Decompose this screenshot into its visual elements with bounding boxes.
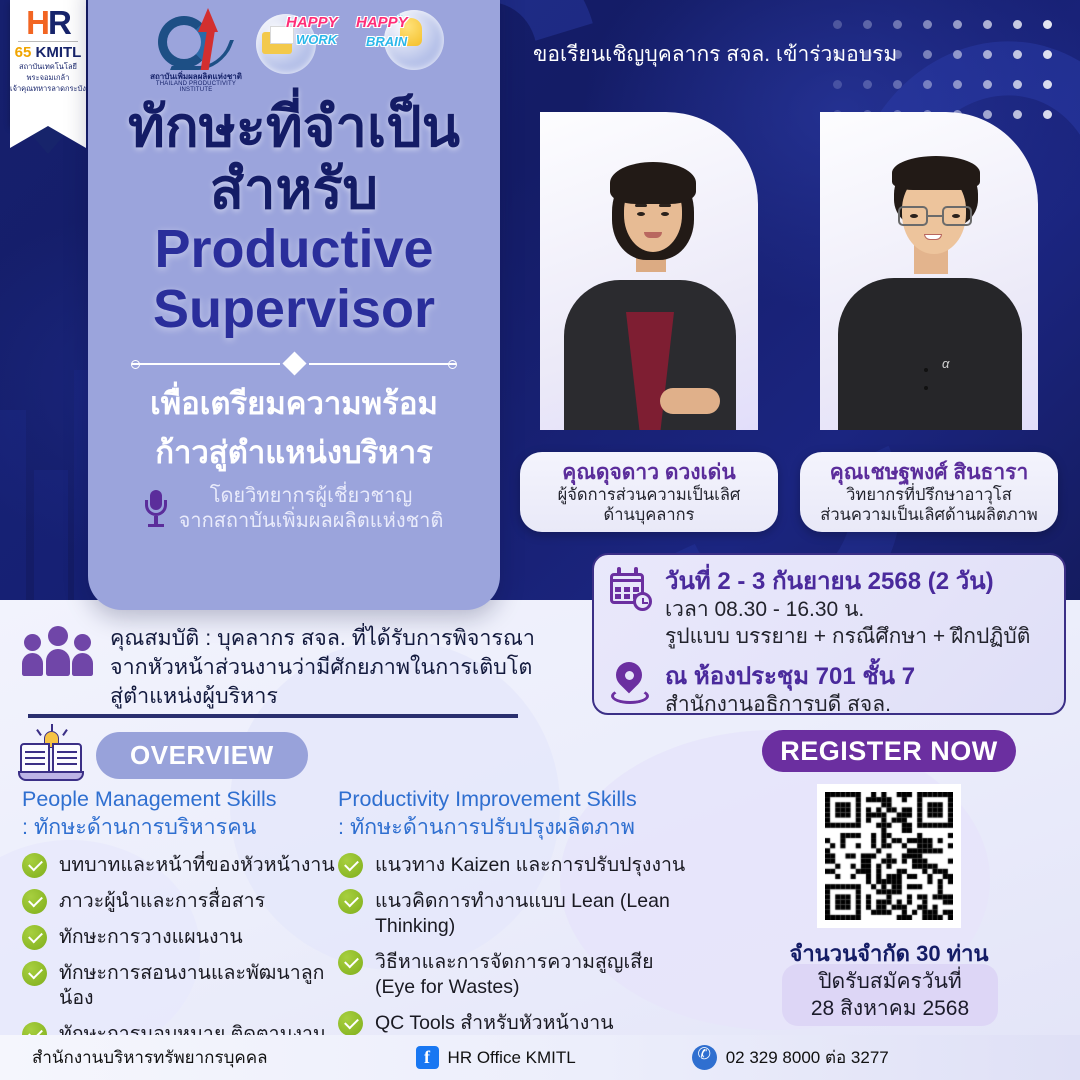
dot xyxy=(923,80,932,89)
kmitl-hr-logo: HR 65 KMITL สถาบันเทคโนโลยี พระจอมเกล้า … xyxy=(10,0,86,126)
happy-brain-badge: ✳ HAPPY BRAIN xyxy=(354,10,446,76)
speaker-role-2-line2: ส่วนความเป็นเลิศด้านผลิตภาพ xyxy=(820,505,1037,525)
speaker-role-1-line1: ผู้จัดการส่วนความเป็นเลิศ xyxy=(558,485,741,505)
dot xyxy=(1013,20,1022,29)
section-divider-rule xyxy=(28,714,518,718)
dot xyxy=(863,80,872,89)
kmitl-text: 65 KMITL xyxy=(10,45,86,60)
check-circle-icon xyxy=(22,961,47,986)
check-circle-icon xyxy=(22,853,47,878)
speaker-name-2: คุณเชษฐพงศ์ สินธารา xyxy=(830,460,1029,485)
phone-icon xyxy=(692,1045,717,1070)
column-2-bullet-list: แนวทาง Kaizen และการปรับปรุงงานแนวคิดการ… xyxy=(338,853,728,1036)
microphone-icon xyxy=(145,490,167,528)
overview-label: OVERVIEW xyxy=(96,732,308,779)
list-item: วิธีหาและการจัดการความสูญเสีย (Eye for W… xyxy=(338,950,728,1000)
speaker-photo-2: α xyxy=(820,112,1038,430)
ftpi-thai-name: สถาบันเพิ่มผลผลิตแห่งชาติ xyxy=(142,72,250,81)
check-circle-icon xyxy=(22,925,47,950)
dot xyxy=(893,80,902,89)
event-time: เวลา 08.30 - 16.30 น. xyxy=(665,596,1030,623)
logo-divider xyxy=(18,41,78,42)
speaker-portrait-male: α xyxy=(820,112,1038,430)
date-time-row: วันที่ 2 - 3 กันยายน 2568 (2 วัน) เวลา 0… xyxy=(608,567,1050,650)
check-circle-icon xyxy=(22,889,47,914)
speaker-role-2-line1: วิทยากรที่ปรึกษาอาวุโส xyxy=(846,485,1012,505)
dot xyxy=(1013,80,1022,89)
speaker-role-1-line2: ด้านบุคลากร xyxy=(604,505,695,525)
hero-speaker-note: โดยวิทยากรผู้เชี่ยวชาญ จากสถาบันเพิ่มผลผ… xyxy=(88,484,500,534)
happy-work-badge: HAPPY WORK xyxy=(256,10,348,76)
dot xyxy=(1043,20,1052,29)
list-item-label: วิธีหาและการจัดการความสูญเสีย (Eye for W… xyxy=(375,950,654,1000)
hero-title-english-line2: Supervisor xyxy=(88,281,500,337)
dot xyxy=(1043,80,1052,89)
open-book-idea-icon xyxy=(18,725,84,785)
happy-work-line1: HAPPY xyxy=(286,14,338,31)
dot xyxy=(1043,110,1052,119)
hr-logo-text: HR xyxy=(10,8,86,38)
list-item: แนวทาง Kaizen และการปรับปรุงงาน xyxy=(338,853,728,878)
footer-phone-text: 02 329 8000 ต่อ 3277 xyxy=(726,1044,889,1071)
hero-subtitle-line1: เพื่อเตรียมความพร้อม xyxy=(88,386,500,421)
dot xyxy=(983,50,992,59)
kmitl-label: KMITL xyxy=(36,44,82,61)
footer-phone[interactable]: 02 329 8000 ต่อ 3277 xyxy=(692,1044,889,1071)
check-circle-icon xyxy=(338,1011,363,1036)
speaker-photo-1 xyxy=(540,112,758,430)
overview-header: OVERVIEW xyxy=(18,725,308,785)
speaker-name-card-2: คุณเชษฐพงศ์ สินธารา วิทยากรที่ปรึกษาอาวุ… xyxy=(800,452,1058,532)
hero-subtitle-line2: ก้าวสู่ตำแหน่งบริหาร xyxy=(88,435,500,470)
event-date: วันที่ 2 - 3 กันยายน 2568 (2 วัน) xyxy=(665,567,1030,596)
dot xyxy=(983,80,992,89)
building-shape xyxy=(0,410,26,620)
ribbon-tail xyxy=(24,126,72,154)
hr-logo-r: R xyxy=(48,4,70,41)
kmitl-years: 65 xyxy=(15,44,32,61)
footer-facebook-text: HR Office KMITL xyxy=(448,1048,576,1068)
column-2-heading-th: : ทักษะด้านการปรับปรุงผลิตภาพ xyxy=(338,813,728,841)
venue-row: ณ ห้องประชุม 701 ชั้น 7 สำนักงานอธิการบด… xyxy=(608,662,1050,718)
overview-column-2: Productivity Improvement Skills : ทักษะด… xyxy=(338,786,728,1047)
list-item: แนวคิดการทำงานแบบ Lean (Lean Thinking) xyxy=(338,889,728,939)
dot xyxy=(893,20,902,29)
list-item-label: ภาวะผู้นำและการสื่อสาร xyxy=(59,889,265,914)
dot xyxy=(953,50,962,59)
list-item-label: แนวทาง Kaizen และการปรับปรุงงาน xyxy=(375,853,685,878)
qualification-line3: สู่ตำแหน่งผู้บริหาร xyxy=(110,682,535,711)
dot xyxy=(953,20,962,29)
deadline-line2: 28 สิงหาคม 2568 xyxy=(811,995,969,1022)
list-item: ทักษะการสอนงานและพัฒนาลูกน้อง xyxy=(22,961,342,1011)
happy-brain-line2: BRAIN xyxy=(366,34,407,49)
dot xyxy=(833,80,842,89)
happy-brain-line1: HAPPY xyxy=(356,14,408,31)
dot xyxy=(1043,50,1052,59)
deadline-line1: ปิดรับสมัครวันที่ xyxy=(818,968,962,995)
poster-root: α ขอเรียนเชิญบุคลากร สจล. เข้าร่วมอบรม H… xyxy=(0,0,1080,1080)
partner-logos: สถาบันเพิ่มผลผลิตแห่งชาติ THAILAND PRODU… xyxy=(88,10,500,93)
list-item-label: ทักษะการวางแผนงาน xyxy=(59,925,243,950)
people-group-icon xyxy=(22,624,94,676)
check-circle-icon xyxy=(338,853,363,878)
dot xyxy=(923,50,932,59)
ftpi-mark xyxy=(142,10,250,72)
hero-title-english-line1: Productive xyxy=(88,221,500,277)
dot xyxy=(953,80,962,89)
speaker-portrait-female xyxy=(540,112,758,430)
column-1-heading-th: : ทักษะด้านการบริหารคน xyxy=(22,813,342,841)
footer-office-text: สำนักงานบริหารทรัพยากรบุคคล xyxy=(32,1044,268,1071)
hero-by-line1: โดยวิทยากรผู้เชี่ยวชาญ xyxy=(179,484,444,509)
column-2-heading-en: Productivity Improvement Skills xyxy=(338,786,728,813)
qualification-block: คุณสมบัติ : บุคลากร สจล. ที่ได้รับการพิจ… xyxy=(22,624,535,711)
footer-office: สำนักงานบริหารทรัพยากรบุคคล xyxy=(32,1044,268,1071)
check-circle-icon xyxy=(338,889,363,914)
hero-title-thai-line1: ทักษะที่จำเป็น xyxy=(88,99,500,155)
divider-line-right xyxy=(309,363,457,365)
list-item: ทักษะการวางแผนงาน xyxy=(22,925,342,950)
location-pin-icon xyxy=(608,662,652,708)
registration-qr-code[interactable] xyxy=(817,784,961,928)
calendar-clock-icon xyxy=(608,567,652,611)
speaker-name-card-1: คุณดุจดาว ดวงเด่น ผู้จัดการส่วนความเป็นเ… xyxy=(520,452,778,532)
list-item-label: ทักษะการสอนงานและพัฒนาลูกน้อง xyxy=(59,961,342,1011)
dot xyxy=(983,20,992,29)
dot xyxy=(863,20,872,29)
list-item-label: QC Tools สำหรับหัวหน้างาน xyxy=(375,1011,614,1036)
hero-card: สถาบันเพิ่มผลผลิตแห่งชาติ THAILAND PRODU… xyxy=(88,0,500,610)
dot xyxy=(833,20,842,29)
ftpi-logo: สถาบันเพิ่มผลผลิตแห่งชาติ THAILAND PRODU… xyxy=(142,10,250,93)
decorative-divider xyxy=(132,355,456,372)
kmitl-thai-2: พระจอมเกล้า xyxy=(10,73,86,82)
footer-bar: สำนักงานบริหารทรัพยากรบุคคล f HR Office … xyxy=(0,1035,1080,1080)
list-item: บทบาทและหน้าที่ของหัวหน้างาน xyxy=(22,853,342,878)
list-item-label: แนวคิดการทำงานแบบ Lean (Lean Thinking) xyxy=(375,889,728,939)
event-format: รูปแบบ บรรยาย + กรณีศึกษา + ฝึกปฏิบัติ xyxy=(665,623,1030,650)
speaker-name-1: คุณดุจดาว ดวงเด่น xyxy=(562,460,735,485)
event-venue-sub: สำนักงานอธิการบดี สจล. xyxy=(665,691,915,718)
happy-work-line2: WORK xyxy=(296,32,337,47)
list-item: QC Tools สำหรับหัวหน้างาน xyxy=(338,1011,728,1036)
kmitl-thai-3: เจ้าคุณทหารลาดกระบัง xyxy=(10,84,86,93)
registration-deadline: ปิดรับสมัครวันที่ 28 สิงหาคม 2568 xyxy=(782,964,998,1026)
list-item: ภาวะผู้นำและการสื่อสาร xyxy=(22,889,342,914)
event-info-box: วันที่ 2 - 3 กันยายน 2568 (2 วัน) เวลา 0… xyxy=(592,553,1066,715)
diamond-icon xyxy=(282,351,306,375)
dot xyxy=(1013,50,1022,59)
column-1-heading-en: People Management Skills xyxy=(22,786,342,813)
divider-line-left xyxy=(132,363,280,365)
event-venue: ณ ห้องประชุม 701 ชั้น 7 xyxy=(665,662,915,691)
hero-by-line2: จากสถาบันเพิ่มผลผลิตแห่งชาติ xyxy=(179,509,444,534)
facebook-icon: f xyxy=(416,1046,439,1069)
invite-text: ขอเรียนเชิญบุคลากร สจล. เข้าร่วมอบรม xyxy=(533,38,897,71)
footer-facebook[interactable]: f HR Office KMITL xyxy=(416,1046,576,1069)
building-shape xyxy=(34,470,68,620)
qualification-line1: คุณสมบัติ : บุคลากร สจล. ที่ได้รับการพิจ… xyxy=(110,624,535,653)
dot xyxy=(923,20,932,29)
qualification-line2: จากหัวหน้าส่วนงานว่ามีศักยภาพในการเติบโต xyxy=(110,653,535,682)
register-now-button[interactable]: REGISTER NOW xyxy=(762,730,1016,772)
ftpi-english-name: THAILAND PRODUCTIVITY INSTITUTE xyxy=(142,81,250,93)
kmitl-thai-1: สถาบันเทคโนโลยี xyxy=(10,62,86,71)
check-circle-icon xyxy=(338,950,363,975)
hero-title-thai-line2: สำหรับ xyxy=(88,161,500,217)
list-item-label: บทบาทและหน้าที่ของหัวหน้างาน xyxy=(59,853,335,878)
